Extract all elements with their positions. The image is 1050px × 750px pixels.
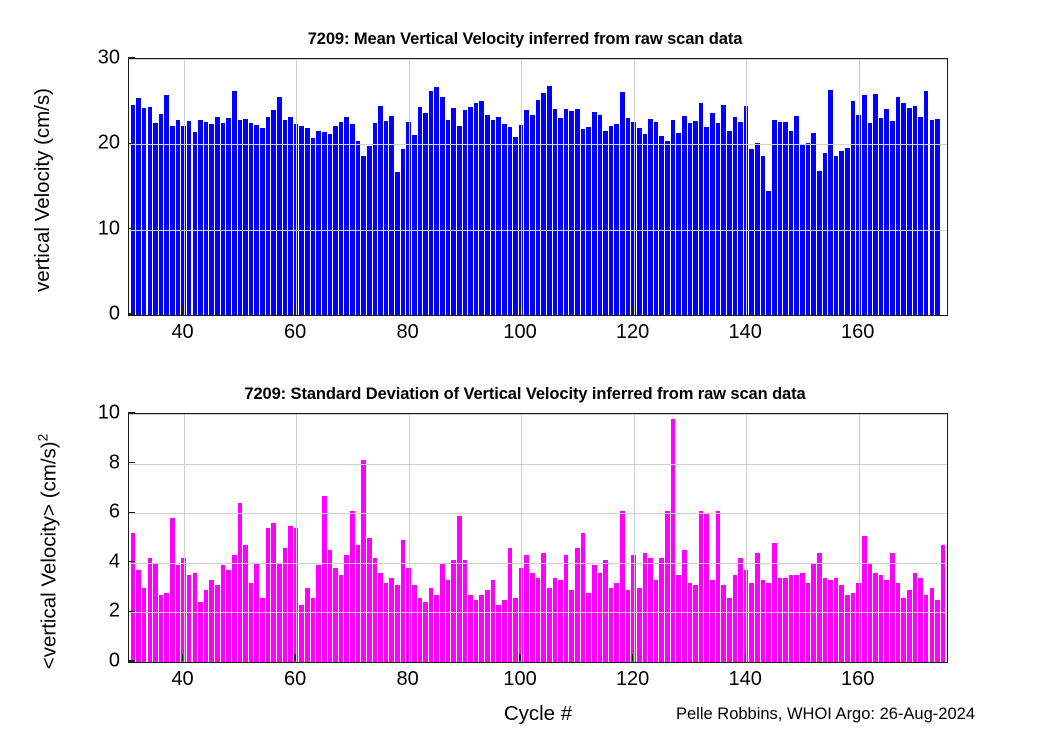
bar xyxy=(389,578,394,662)
bar xyxy=(581,533,586,662)
bar xyxy=(176,565,181,662)
bar xyxy=(530,573,535,662)
bar xyxy=(862,536,867,662)
bar xyxy=(609,588,614,662)
panel-std-vertical-velocity: 7209: Standard Deviation of Vertical Vel… xyxy=(0,0,1050,750)
gridline-vertical xyxy=(746,414,747,662)
gridline-vertical xyxy=(184,414,185,662)
bar xyxy=(536,578,541,662)
bar xyxy=(215,585,220,662)
bar xyxy=(513,598,518,662)
bar xyxy=(676,575,681,662)
bar xyxy=(834,578,839,662)
bar xyxy=(648,558,653,662)
bar xyxy=(603,560,608,662)
bar xyxy=(496,605,501,662)
bar xyxy=(305,588,310,662)
bar xyxy=(839,585,844,662)
bar xyxy=(749,583,754,662)
bar xyxy=(238,503,243,662)
bottom-chart-plot-area xyxy=(128,413,948,663)
bar xyxy=(828,580,833,662)
bar xyxy=(322,496,327,662)
x-tick-mark xyxy=(294,654,295,661)
y-tick-label: 8 xyxy=(60,451,120,474)
bar xyxy=(688,583,693,662)
bar xyxy=(221,565,226,662)
bar xyxy=(845,595,850,662)
y-tick-mark xyxy=(128,611,135,612)
bar xyxy=(524,555,529,662)
gridline-horizontal xyxy=(129,513,947,514)
y-tick-label: 2 xyxy=(60,600,120,623)
gridline-horizontal xyxy=(129,612,947,613)
bar xyxy=(204,590,209,662)
y-tick-mark xyxy=(128,412,135,413)
bottom-chart-bars xyxy=(129,414,947,662)
bar xyxy=(164,593,169,662)
bar xyxy=(311,598,316,662)
x-tick-label: 160 xyxy=(841,668,874,691)
bar xyxy=(361,460,366,662)
bar xyxy=(232,555,237,662)
bar xyxy=(344,555,349,662)
bar xyxy=(614,583,619,662)
bar xyxy=(485,590,490,662)
bar xyxy=(823,578,828,662)
bar xyxy=(918,578,923,662)
bar xyxy=(547,588,552,662)
y-tick-label: 4 xyxy=(60,550,120,573)
bar xyxy=(367,538,372,662)
gridline-vertical xyxy=(521,414,522,662)
bottom-chart-ylabel: <vertical Velocity> (cm/s)2 xyxy=(35,406,62,696)
x-tick-label: 60 xyxy=(284,668,306,691)
bar xyxy=(716,511,721,662)
gridline-vertical xyxy=(859,414,860,662)
bar xyxy=(789,575,794,662)
matlab-figure: 7209: Mean Vertical Velocity inferred fr… xyxy=(0,0,1050,750)
bar xyxy=(766,583,771,662)
x-tick-mark xyxy=(182,654,183,661)
bar xyxy=(693,585,698,662)
bar xyxy=(553,578,558,662)
x-tick-label: 140 xyxy=(728,668,761,691)
bar xyxy=(271,523,276,662)
bar xyxy=(446,580,451,662)
x-tick-mark xyxy=(857,654,858,661)
bar xyxy=(654,580,659,662)
bar xyxy=(935,600,940,662)
bar xyxy=(333,568,338,662)
gridline-horizontal xyxy=(129,414,947,415)
bar xyxy=(575,548,580,662)
bar xyxy=(873,573,878,662)
bar xyxy=(643,553,648,662)
bar xyxy=(569,590,574,662)
bar xyxy=(907,590,912,662)
bottom-chart-ylabel-exponent: 2 xyxy=(35,434,51,442)
x-tick-mark xyxy=(407,654,408,661)
bottom-chart-xlabel: Cycle # xyxy=(428,702,648,726)
gridline-vertical xyxy=(296,414,297,662)
bar xyxy=(710,580,715,662)
bar xyxy=(738,558,743,662)
bar xyxy=(508,548,513,662)
bar xyxy=(598,573,603,662)
bar xyxy=(384,583,389,662)
bar xyxy=(586,593,591,662)
bar xyxy=(491,580,496,662)
x-tick-label: 120 xyxy=(616,668,649,691)
y-tick-label: 0 xyxy=(60,650,120,673)
bar xyxy=(299,605,304,662)
gridline-horizontal xyxy=(129,464,947,465)
bar xyxy=(699,511,704,662)
y-tick-label: 10 xyxy=(60,402,120,425)
x-tick-label: 80 xyxy=(396,668,418,691)
bar xyxy=(592,565,597,662)
bar xyxy=(733,575,738,662)
gridline-vertical xyxy=(634,414,635,662)
bar xyxy=(429,588,434,662)
bar xyxy=(800,573,805,662)
bar xyxy=(266,528,271,662)
bar xyxy=(283,548,288,662)
bar xyxy=(159,595,164,662)
bottom-chart-title: 7209: Standard Deviation of Vertical Vel… xyxy=(0,385,1050,404)
bar xyxy=(170,518,175,662)
bar xyxy=(193,573,198,662)
bar xyxy=(249,583,254,662)
bar xyxy=(783,578,788,662)
bar xyxy=(671,419,676,662)
bar xyxy=(479,595,484,662)
bottom-chart-ylabel-text: <vertical Velocity> (cm/s) xyxy=(37,441,60,669)
x-tick-mark xyxy=(745,654,746,661)
y-tick-mark xyxy=(128,660,135,661)
bar xyxy=(930,588,935,662)
bar xyxy=(924,595,929,662)
bar xyxy=(761,580,766,662)
bar xyxy=(142,588,147,662)
bar xyxy=(451,560,456,662)
bar xyxy=(131,533,136,662)
bar xyxy=(316,565,321,662)
bar xyxy=(659,558,664,662)
bar xyxy=(806,583,811,662)
bar xyxy=(564,555,569,662)
bar xyxy=(913,573,918,662)
bar xyxy=(434,595,439,662)
x-tick-label: 40 xyxy=(171,668,193,691)
bar xyxy=(772,543,777,662)
bar xyxy=(209,580,214,662)
bar xyxy=(637,588,642,662)
bar xyxy=(339,575,344,662)
y-tick-label: 6 xyxy=(60,501,120,524)
bar xyxy=(418,598,423,662)
bar xyxy=(558,580,563,662)
bar xyxy=(851,593,856,662)
bar xyxy=(463,560,468,662)
bar xyxy=(727,598,732,662)
bar xyxy=(457,516,462,662)
bar xyxy=(412,585,417,662)
bar xyxy=(401,540,406,662)
bar xyxy=(373,558,378,662)
bar xyxy=(288,526,293,662)
bar xyxy=(879,575,884,662)
bar xyxy=(187,575,192,662)
gridline-vertical xyxy=(409,414,410,662)
bar xyxy=(474,600,479,662)
bar xyxy=(378,573,383,662)
bar xyxy=(817,553,822,662)
bar xyxy=(395,585,400,662)
y-tick-mark xyxy=(128,462,135,463)
bar xyxy=(901,598,906,662)
bar xyxy=(794,575,799,662)
bar xyxy=(755,553,760,662)
bar xyxy=(541,553,546,662)
x-tick-mark xyxy=(519,654,520,661)
bar xyxy=(626,590,631,662)
bar xyxy=(682,550,687,662)
bar xyxy=(890,553,895,662)
bar xyxy=(778,578,783,662)
bar xyxy=(468,595,473,662)
figure-credit: Pelle Robbins, WHOI Argo: 26-Aug-2024 xyxy=(676,705,975,724)
bar xyxy=(704,513,709,662)
gridline-horizontal xyxy=(129,563,947,564)
x-tick-mark xyxy=(632,654,633,661)
bar xyxy=(350,511,355,662)
bar xyxy=(260,598,265,662)
bar xyxy=(502,600,507,662)
bar xyxy=(896,583,901,662)
bar xyxy=(620,511,625,662)
x-tick-label: 100 xyxy=(503,668,536,691)
bar xyxy=(665,511,670,662)
y-tick-mark xyxy=(128,512,135,513)
bar xyxy=(136,570,141,662)
bar xyxy=(226,570,231,662)
y-tick-mark xyxy=(128,561,135,562)
bar xyxy=(148,558,153,662)
bar xyxy=(884,580,889,662)
bar xyxy=(721,585,726,662)
bar xyxy=(328,550,333,662)
